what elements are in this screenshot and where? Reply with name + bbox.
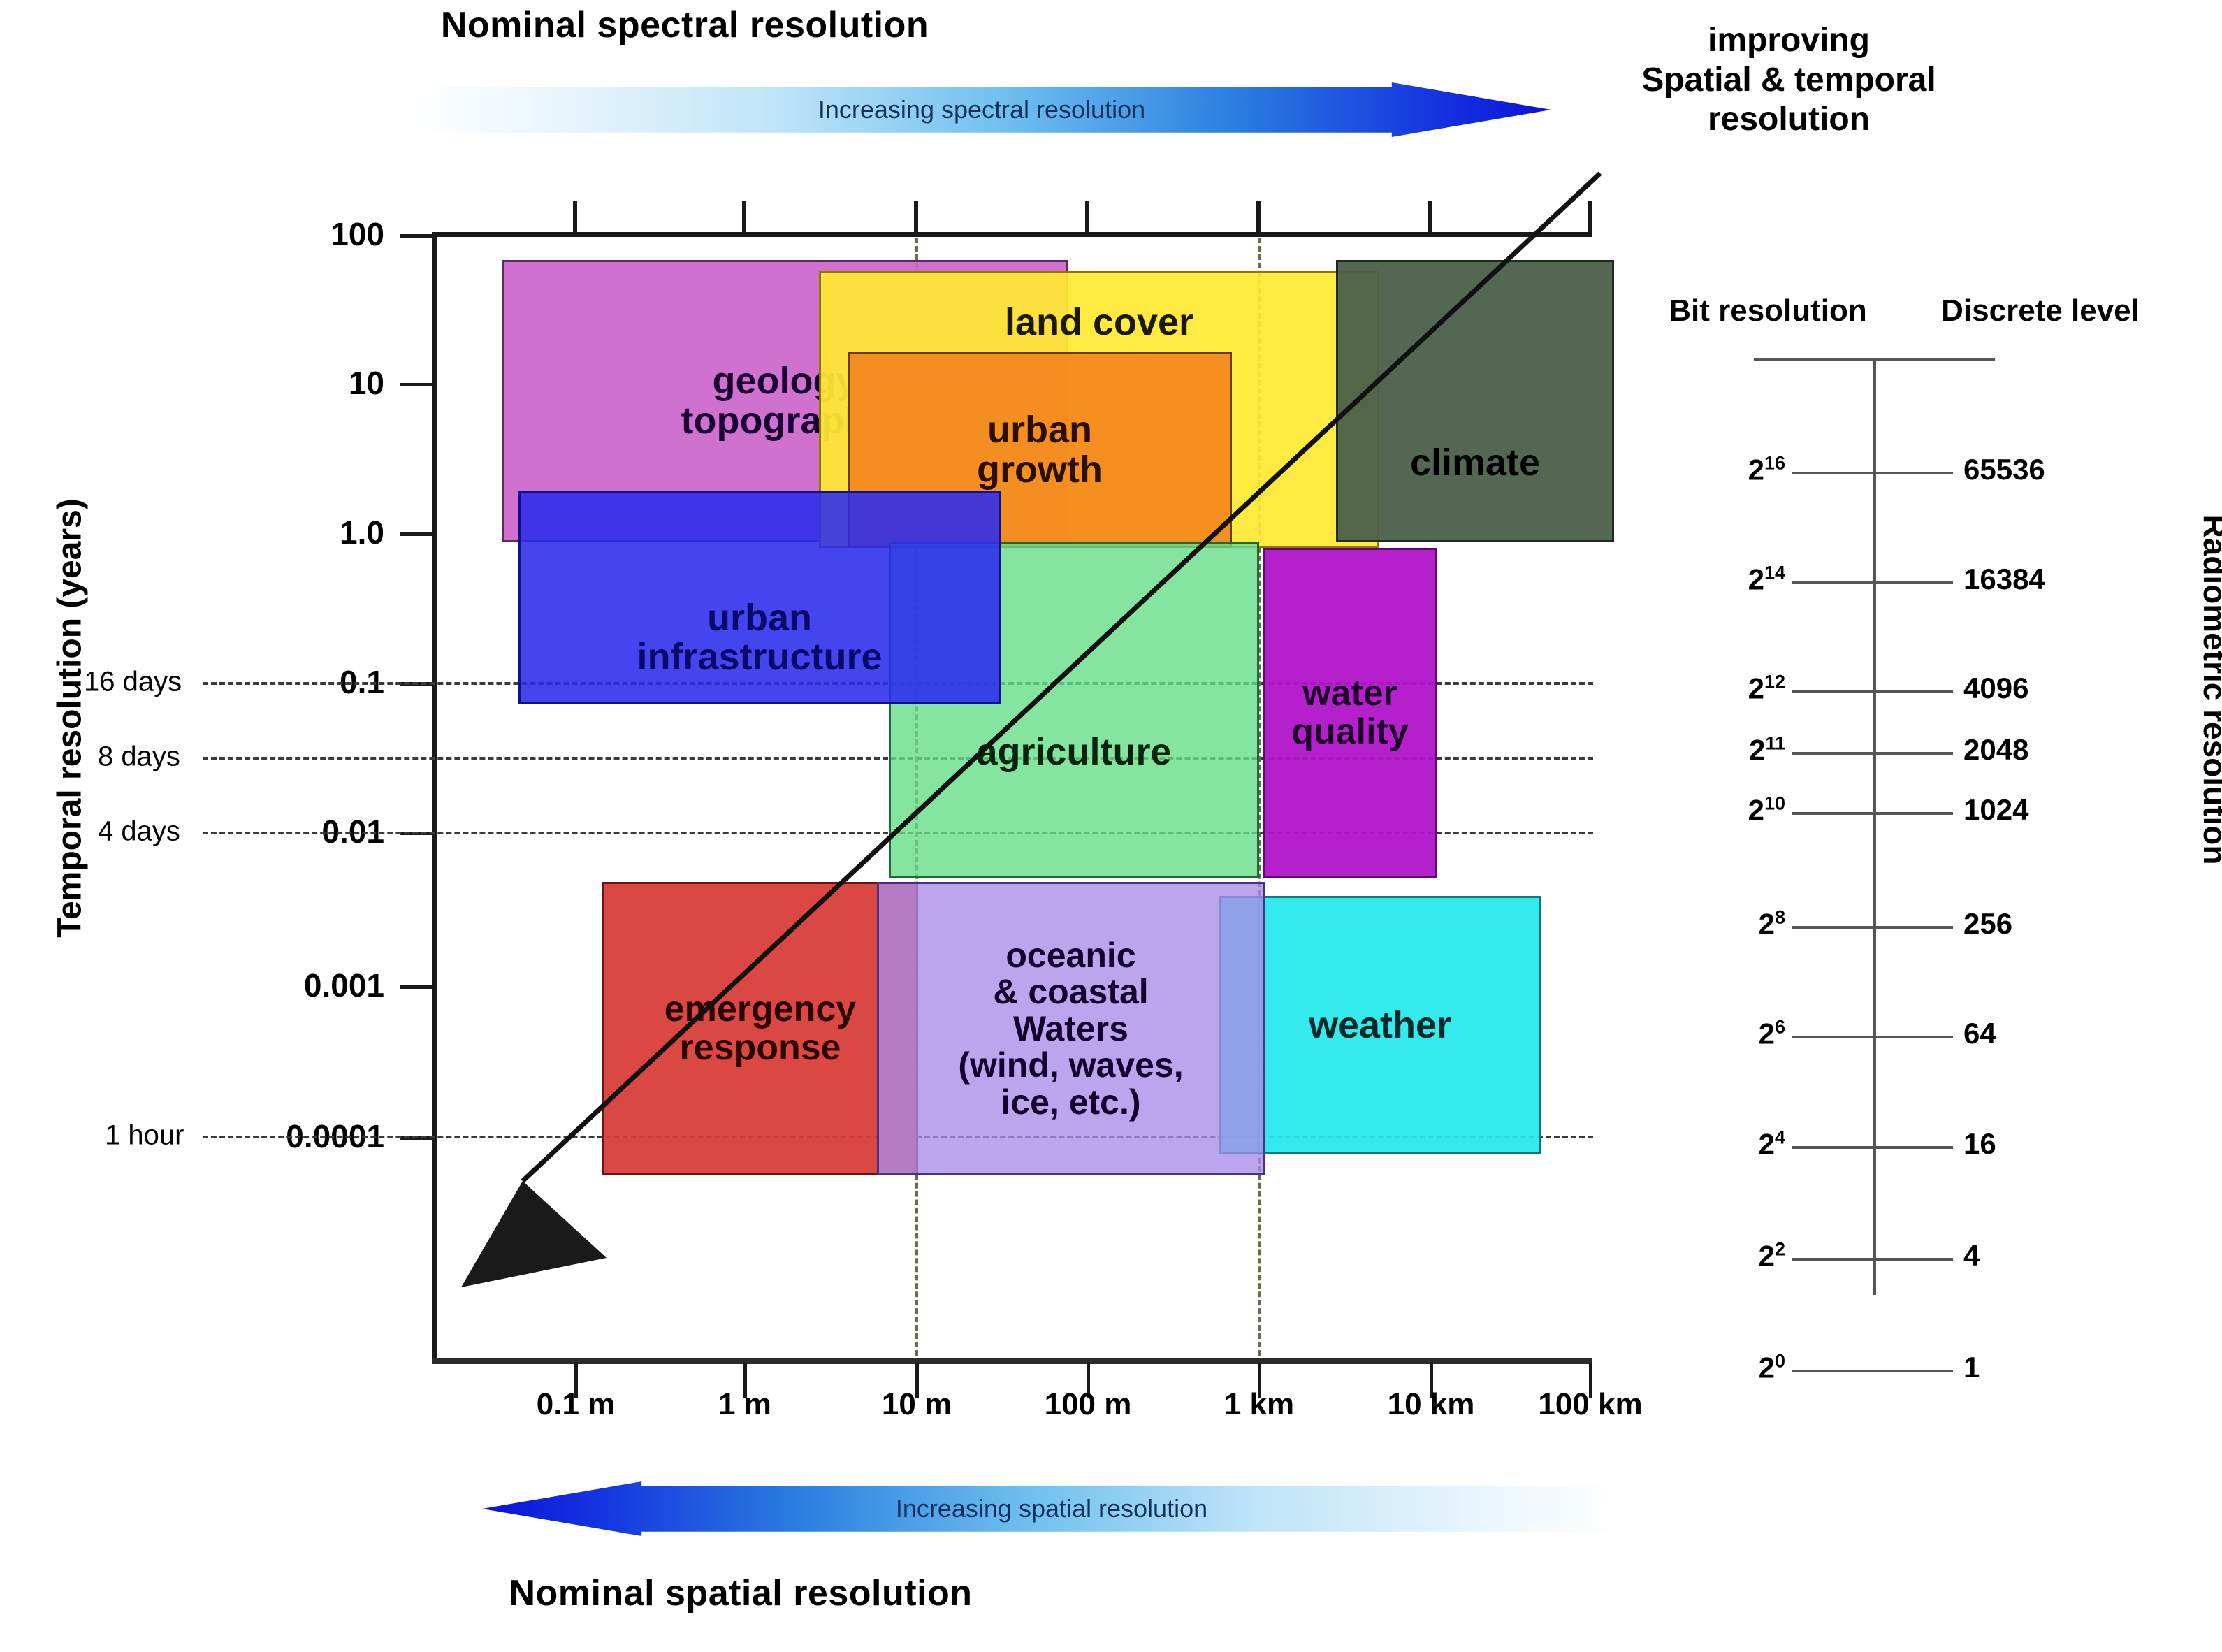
improving-line-1: improving <box>1593 21 1984 61</box>
x-label-1m: 1 m <box>718 1387 771 1422</box>
box-emergency-line1: emergency <box>665 990 857 1029</box>
plot-x-axis <box>432 1358 1592 1364</box>
improving-line-2: Spatial & temporal <box>1593 61 1984 101</box>
bit-resolution-header: Bit resolution <box>1649 294 1887 328</box>
box-oceanic-line5: ice, etc.) <box>958 1084 1183 1121</box>
box-agriculture-label: agriculture <box>976 732 1171 772</box>
spatial-arrow-label: Increasing spatial resolution <box>482 1481 1621 1536</box>
bit-tick-6 <box>1792 1036 1953 1038</box>
y-note-8-days: 8 days <box>98 741 180 773</box>
box-urban-growth-line2: growth <box>977 450 1103 490</box>
box-oceanic-line4: (wind, waves, <box>958 1047 1183 1084</box>
trend-arrow-head <box>461 1181 607 1287</box>
bit-resolution-panel: Bit resolution Discrete level 216 65536 … <box>1663 280 2194 1328</box>
bit-exp-16: 216 <box>1663 453 1785 487</box>
bit-exp-4: 24 <box>1663 1127 1785 1161</box>
bit-tick-8 <box>1792 926 1953 929</box>
bit-tick-10 <box>1792 812 1953 815</box>
bit-tick-16 <box>1792 472 1953 474</box>
bit-exp-8: 28 <box>1663 907 1785 941</box>
box-oceanic-line1: oceanic <box>958 937 1183 974</box>
bit-level-1024: 1024 <box>1963 793 2028 827</box>
box-urban-growth-line1: urban <box>977 410 1103 450</box>
y-tick-0001 <box>400 985 432 989</box>
box-water-quality[interactable]: water quality <box>1263 548 1437 878</box>
y-note-1-hour: 1 hour <box>105 1120 184 1152</box>
box-oceanic-coastal-waters[interactable]: oceanic & coastal Waters (wind, waves, i… <box>877 882 1265 1175</box>
x-label-10m: 10 m <box>882 1387 952 1422</box>
bit-scale-axis <box>1873 360 1876 1295</box>
plot-top-axis <box>432 232 1592 237</box>
bit-tick-11 <box>1792 752 1953 755</box>
box-urban-infrastructure[interactable]: urban infrastructure <box>518 491 1001 704</box>
box-emergency-response[interactable]: emergency response <box>602 882 918 1175</box>
spectral-title: Nominal spectral resolution <box>0 4 1370 46</box>
box-weather-label: weather <box>1309 1006 1451 1045</box>
x-tick-10km <box>1428 201 1432 235</box>
bit-tick-2 <box>1792 1258 1953 1261</box>
x-tick-1m <box>742 201 746 235</box>
improving-line-3: resolution <box>1593 100 1984 140</box>
bit-tick-0 <box>1792 1370 1953 1372</box>
bit-exp-10: 210 <box>1663 793 1785 827</box>
bit-level-256: 256 <box>1963 907 2012 941</box>
radiometric-axis-title: Radiometric resolution <box>2196 410 2222 969</box>
bit-level-64: 64 <box>1963 1017 1996 1050</box>
bit-tick-14 <box>1792 581 1953 584</box>
x-tick-100km <box>1588 201 1592 235</box>
y-axis-title: Temporal resolution (years) <box>51 439 89 998</box>
bit-level-65536: 65536 <box>1963 453 2045 486</box>
box-water-quality-line2: quality <box>1291 713 1409 751</box>
x-label-10km: 10 km <box>1388 1387 1475 1422</box>
bit-exp-2: 22 <box>1663 1239 1785 1273</box>
box-emergency-line2: response <box>665 1029 857 1067</box>
spectral-arrow-label: Increasing spectral resolution <box>412 82 1551 137</box>
discrete-level-header: Discrete level <box>1894 294 2187 328</box>
y-label-1: 1.0 <box>231 514 384 551</box>
x-label-0-1m: 0.1 m <box>537 1387 616 1422</box>
box-oceanic-line2: & coastal <box>958 973 1183 1010</box>
y-tick-10 <box>400 383 432 386</box>
box-land-cover-label: land cover <box>1005 303 1193 342</box>
improving-resolution-label: improving Spatial & temporal resolution <box>1593 21 1984 140</box>
bit-tick-12 <box>1792 690 1953 693</box>
spatial-title: Nominal spatial resolution <box>0 1572 1481 1614</box>
bit-exp-0: 20 <box>1663 1351 1785 1385</box>
y-tick-100 <box>400 234 432 238</box>
box-oceanic-line3: Waters <box>958 1010 1183 1048</box>
x-tick-1km <box>1256 201 1261 235</box>
bit-exp-11: 211 <box>1663 733 1785 767</box>
x-tick-100m <box>1085 201 1089 235</box>
bit-exp-12: 212 <box>1663 672 1785 706</box>
box-water-quality-line1: water <box>1291 674 1409 713</box>
spectral-gradient-arrow: Increasing spectral resolution <box>412 82 1551 137</box>
bit-level-16384: 16384 <box>1963 563 2045 596</box>
y-label-0-001: 0.001 <box>231 966 384 1004</box>
x-label-100m: 100 m <box>1045 1387 1132 1422</box>
box-weather[interactable]: weather <box>1219 896 1541 1154</box>
bit-exp-6: 26 <box>1663 1017 1785 1051</box>
y-label-10: 10 <box>231 364 384 402</box>
box-climate-label: climate <box>1410 443 1540 483</box>
bit-level-16: 16 <box>1963 1127 1996 1161</box>
bit-tick-4 <box>1792 1146 1953 1149</box>
plot-y-axis <box>432 232 437 1363</box>
bit-level-1: 1 <box>1963 1351 1980 1384</box>
bit-level-2048: 2048 <box>1963 733 2028 767</box>
box-urban-infra-line2: infrastructure <box>637 637 882 677</box>
spatial-gradient-arrow: Increasing spatial resolution <box>482 1481 1621 1536</box>
bit-exp-14: 214 <box>1663 563 1785 597</box>
x-label-100km: 100 km <box>1538 1387 1642 1422</box>
x-label-1km: 1 km <box>1224 1387 1294 1422</box>
y-note-16-days: 16 days <box>84 667 182 698</box>
y-tick-1 <box>400 532 432 536</box>
y-note-4-days: 4 days <box>98 816 180 848</box>
box-climate[interactable]: climate <box>1336 260 1614 542</box>
x-tick-0-1m <box>573 201 577 235</box>
bit-level-4: 4 <box>1963 1239 1980 1273</box>
box-urban-infra-line1: urban <box>637 598 882 638</box>
y-label-100: 100 <box>231 215 384 253</box>
x-tick-10m <box>914 201 918 235</box>
bit-level-4096: 4096 <box>1963 672 2028 705</box>
